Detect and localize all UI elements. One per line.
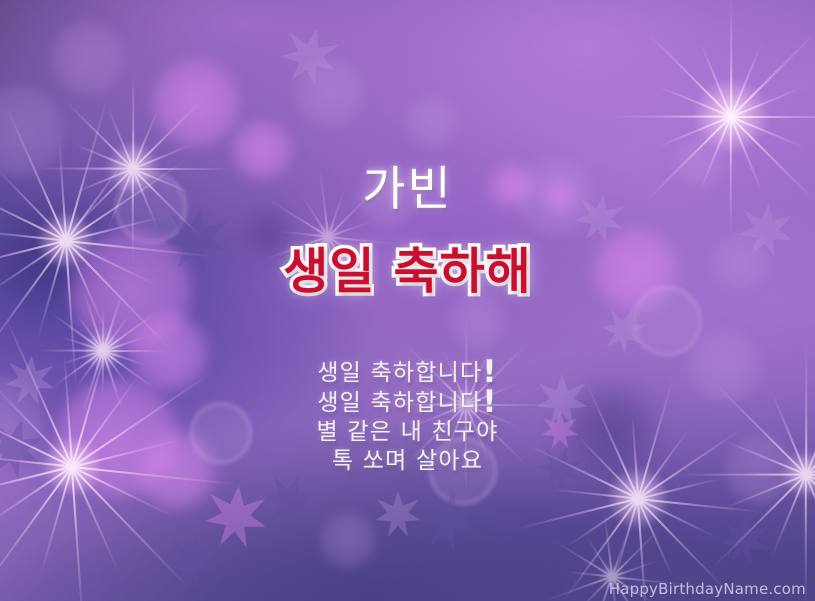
- exclamation-mark: !: [482, 384, 497, 420]
- text-layer: 가빈 생일 축하해 생일 축하합니다!생일 축하합니다!별 같은 내 친구야톡 …: [0, 0, 815, 601]
- verse-line-text: 생일 축하합니다: [317, 360, 482, 386]
- verse-block: 생일 축하합니다!생일 축하합니다!별 같은 내 친구야톡 쏘며 살아요: [0, 358, 815, 476]
- verse-line-text: 톡 쏘며 살아요: [332, 448, 483, 474]
- verse-line: 생일 축하합니다!: [0, 358, 815, 388]
- verse-line-text: 생일 축하합니다: [317, 390, 482, 416]
- verse-line: 생일 축하합니다!: [0, 388, 815, 418]
- greeting-headline: 생일 축하해: [0, 246, 815, 298]
- verse-line: 톡 쏘며 살아요: [0, 447, 815, 476]
- verse-line: 별 같은 내 친구야: [0, 418, 815, 447]
- site-watermark: HappyBirthdayName.com: [609, 580, 806, 598]
- recipient-name: 가빈: [0, 166, 815, 213]
- birthday-card: 가빈 생일 축하해 생일 축하합니다!생일 축하합니다!별 같은 내 친구야톡 …: [0, 0, 815, 601]
- verse-line-text: 별 같은 내 친구야: [316, 419, 498, 445]
